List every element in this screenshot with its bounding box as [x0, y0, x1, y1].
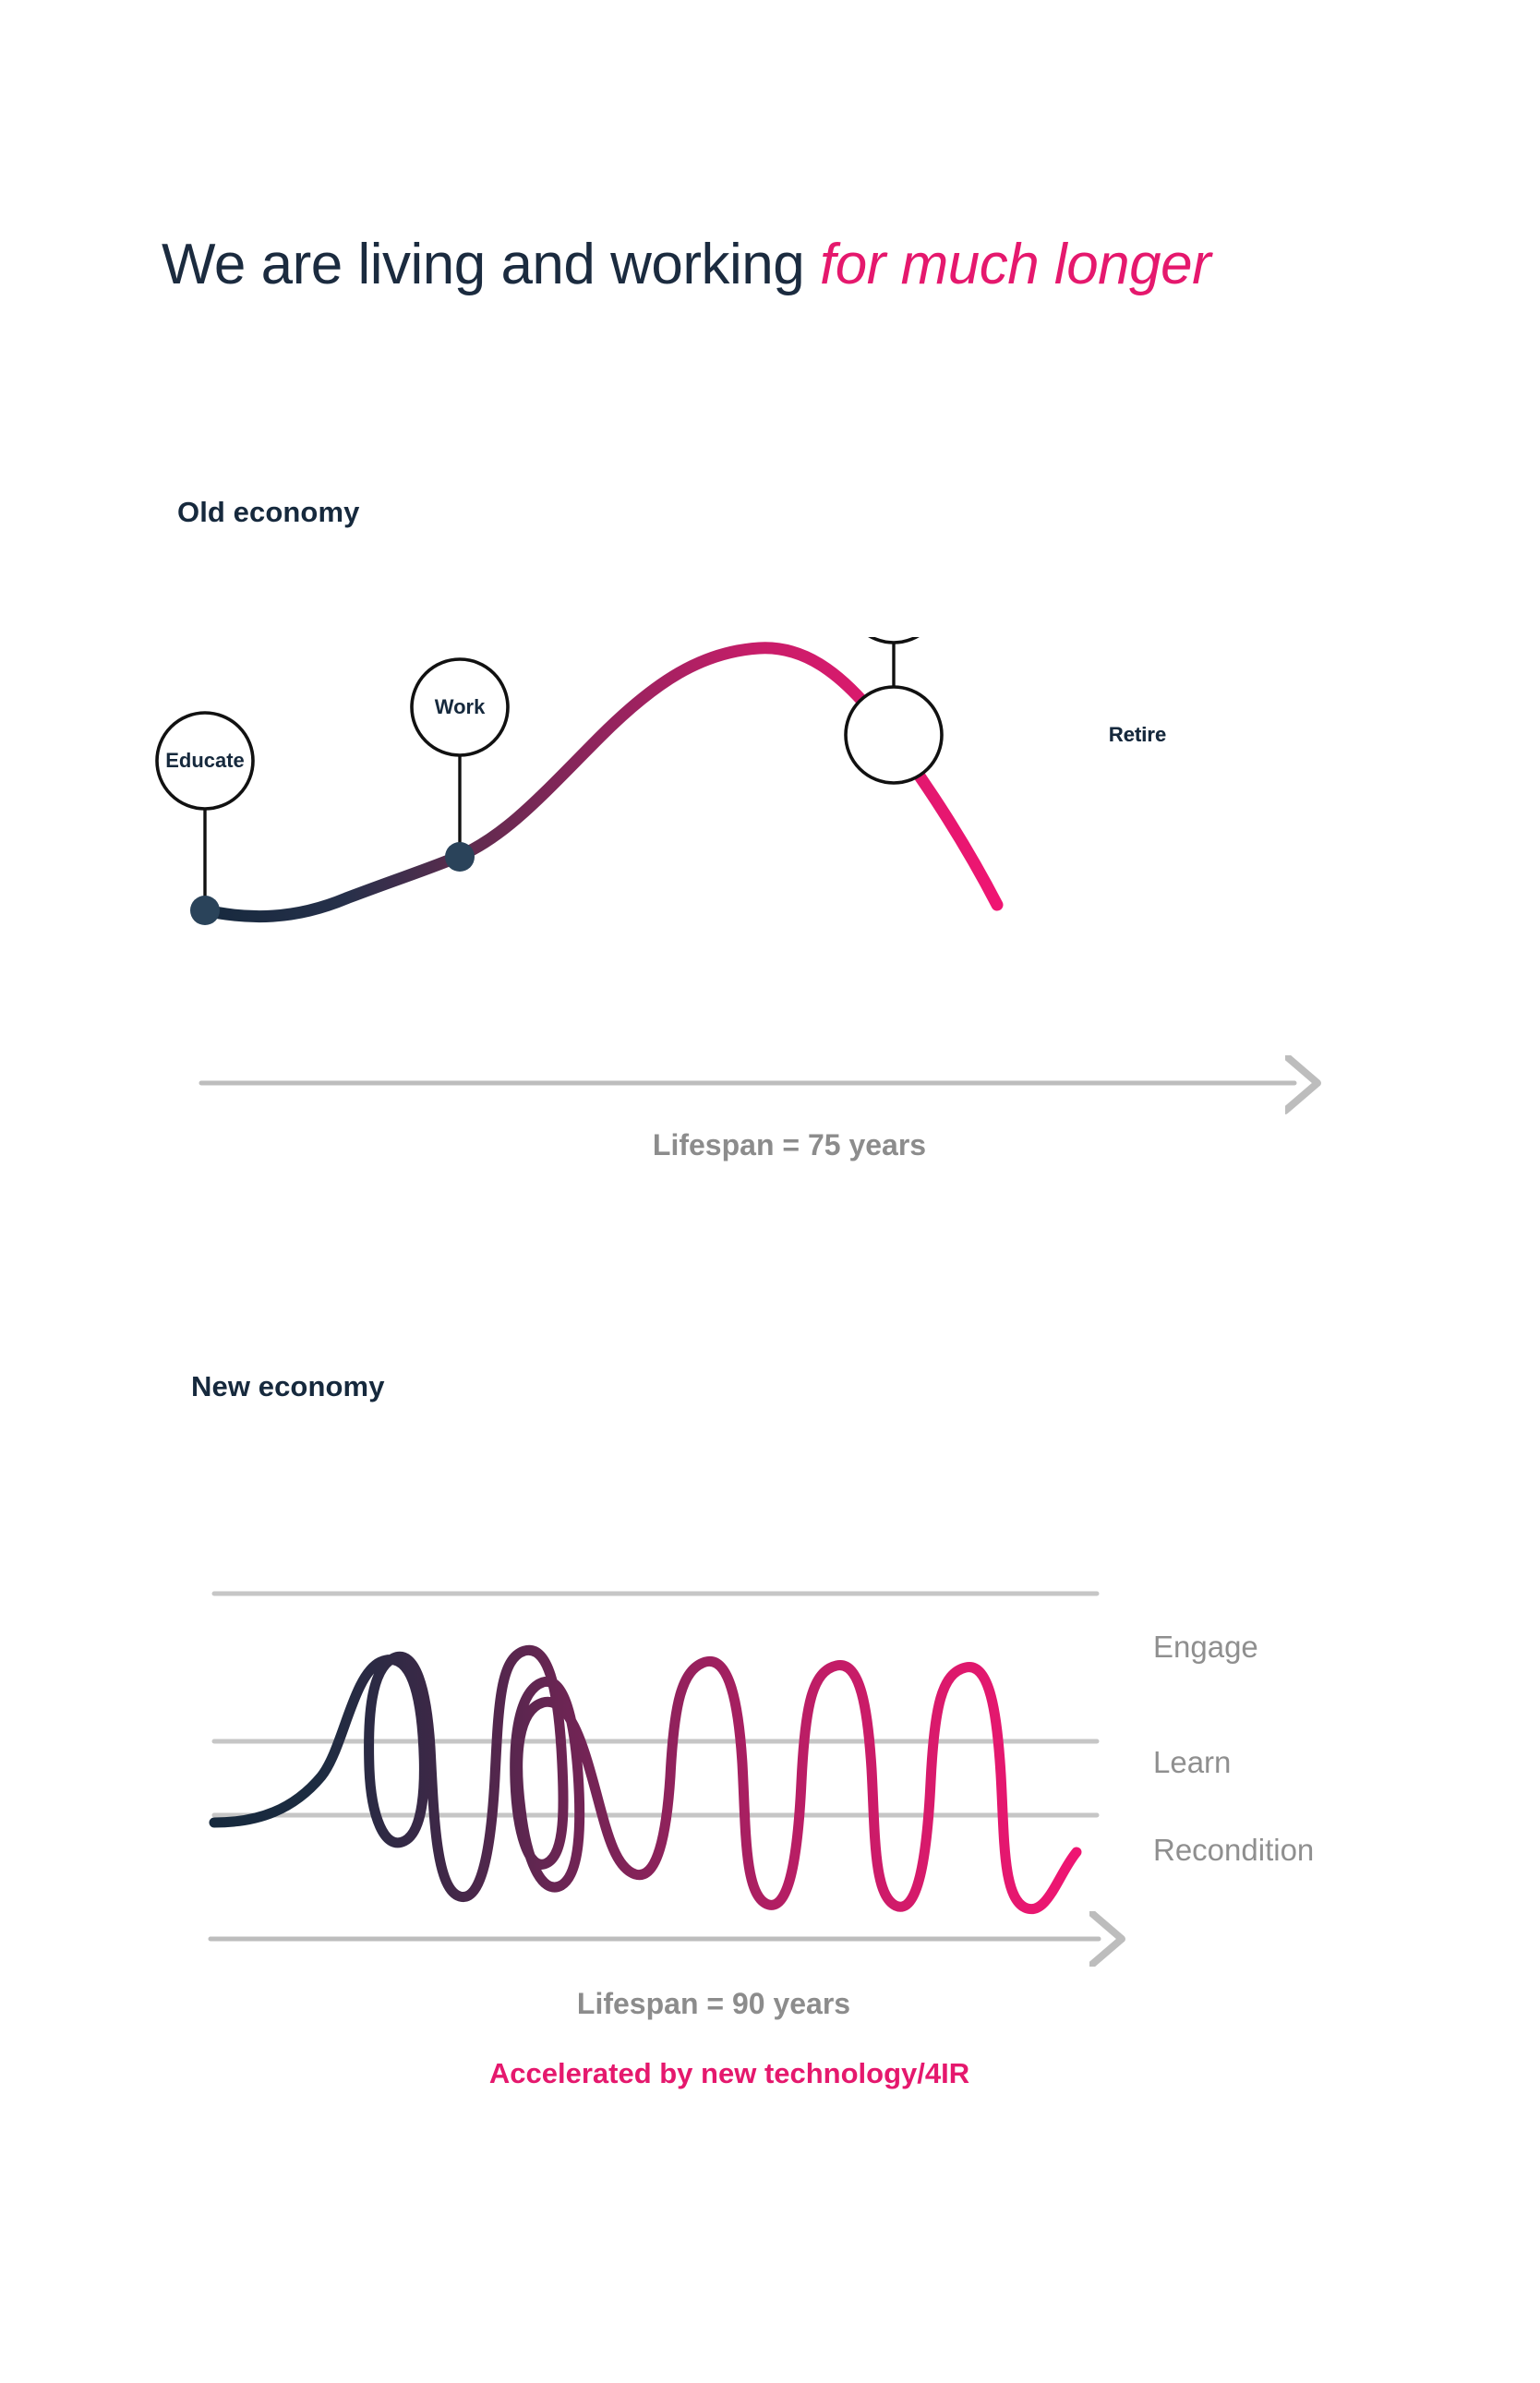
poster-canvas: We are living and working for much longe… [0, 0, 1540, 2383]
page-title-main: We are living and working [162, 233, 820, 296]
chart-new-economy [138, 1505, 1431, 1967]
work-dot [445, 842, 475, 872]
old-economy-svg [138, 637, 1385, 1117]
new-economy-svg [138, 1505, 1431, 1967]
educate-dot [190, 896, 220, 925]
work-bubble [412, 659, 508, 755]
retire-bubble [846, 637, 942, 643]
section-heading-new-economy: New economy [191, 1370, 385, 1403]
page-title: We are living and working for much longe… [162, 235, 1210, 295]
band-label-engage: Engage [1153, 1630, 1258, 1665]
page-title-accent: for much longer [820, 233, 1210, 296]
band-label-learn: Learn [1153, 1745, 1231, 1780]
caption-new-economy-lifespan: Lifespan = 90 years [577, 1987, 850, 2021]
new-economy-line [214, 1650, 1077, 1908]
caption-old-economy-lifespan: Lifespan = 75 years [653, 1128, 926, 1162]
section-heading-old-economy: Old economy [177, 496, 359, 529]
chart-old-economy [138, 637, 1385, 1117]
band-label-recondition: Recondition [1153, 1833, 1314, 1868]
educate-bubble [157, 713, 253, 809]
retire-bubble-overlay [803, 667, 951, 814]
caption-accelerated-footnote: Accelerated by new technology/4IR [489, 2057, 969, 2090]
